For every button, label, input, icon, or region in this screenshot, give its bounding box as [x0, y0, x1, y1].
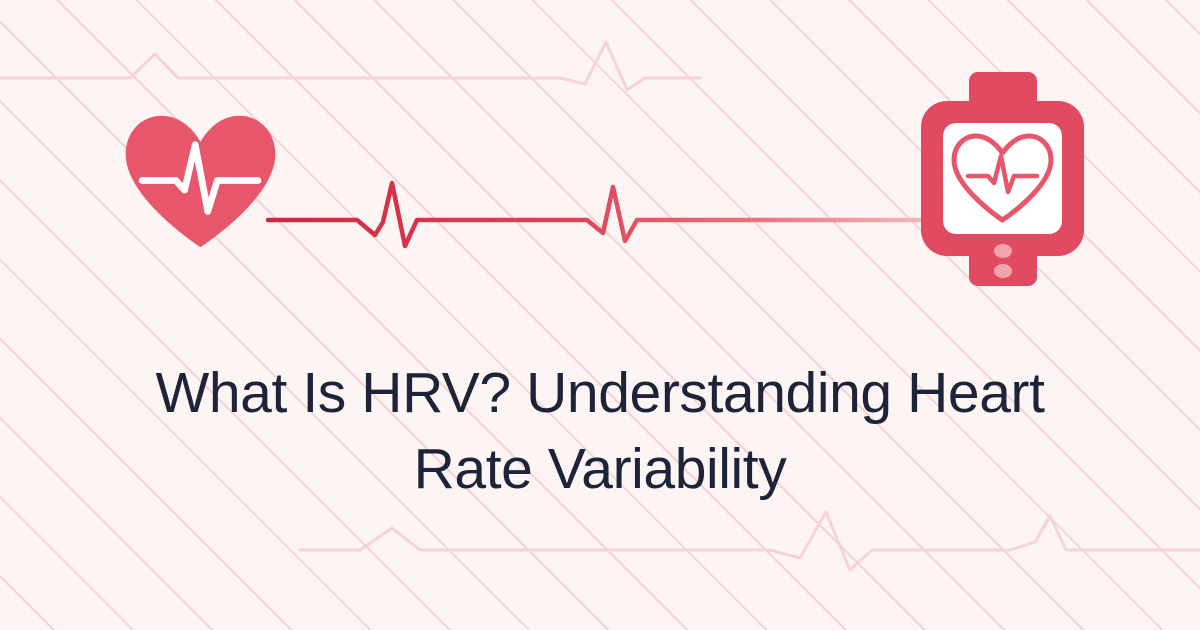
page-title-line-1: What Is HRV? Understanding Heart: [120, 355, 1080, 431]
background-ecg-line-bottom: [0, 500, 1200, 600]
page-title-line-2: Rate Variability: [120, 431, 1080, 507]
ecg-connector-line: [265, 175, 925, 250]
heart-with-pulse-icon: [118, 110, 283, 250]
social-card-canvas: What Is HRV? Understanding Heart Rate Va…: [0, 0, 1200, 630]
smartwatch-heart-rate-icon: [915, 68, 1090, 288]
watch-band-dot-upper: [994, 244, 1012, 258]
page-title: What Is HRV? Understanding Heart Rate Va…: [0, 355, 1200, 507]
watch-band-dot-lower: [994, 264, 1012, 278]
